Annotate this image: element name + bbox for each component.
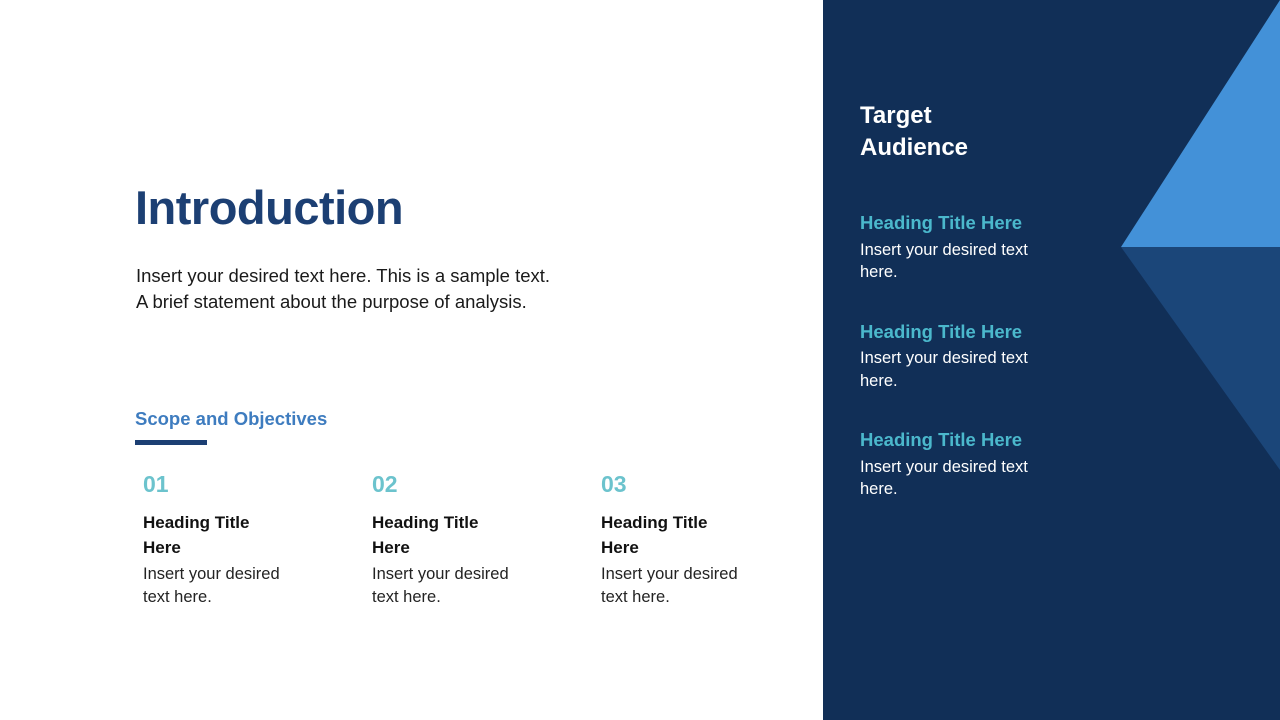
objective-column: 02 Heading Title Here Insert your desire… bbox=[372, 472, 601, 609]
panel-title-line-2: Audience bbox=[860, 132, 968, 164]
intro-paragraph: Insert your desired text here. This is a… bbox=[136, 263, 756, 316]
objective-number: 01 bbox=[143, 472, 372, 497]
objective-body: Insert your desired text here. bbox=[143, 563, 293, 610]
intro-line-2: A brief statement about the purpose of a… bbox=[136, 289, 756, 315]
bright-blue-triangle bbox=[1121, 0, 1280, 247]
objective-column: 01 Heading Title Here Insert your desire… bbox=[143, 472, 372, 609]
audience-item: Heading Title Here Insert your desired t… bbox=[860, 211, 1070, 284]
objective-number: 03 bbox=[601, 472, 830, 497]
objective-heading: Heading Title Here bbox=[143, 511, 263, 560]
slide-canvas: Introduction Insert your desired text he… bbox=[0, 0, 1280, 720]
audience-item-heading: Heading Title Here bbox=[860, 428, 1070, 453]
objective-heading: Heading Title Here bbox=[372, 511, 492, 560]
objective-body: Insert your desired text here. bbox=[601, 563, 751, 610]
page-title: Introduction bbox=[135, 183, 403, 232]
target-audience-panel: Target Audience Heading Title Here Inser… bbox=[823, 0, 1280, 720]
audience-item: Heading Title Here Insert your desired t… bbox=[860, 320, 1070, 393]
left-content-pane: Introduction Insert your desired text he… bbox=[0, 0, 823, 720]
scope-and-objectives-heading: Scope and Objectives bbox=[135, 408, 327, 430]
intro-line-1: Insert your desired text here. This is a… bbox=[136, 263, 756, 289]
objective-number: 02 bbox=[372, 472, 601, 497]
scope-underline-bar bbox=[135, 440, 207, 445]
audience-items-list: Heading Title Here Insert your desired t… bbox=[860, 211, 1070, 501]
audience-item-body: Insert your desired text here. bbox=[860, 239, 1056, 284]
audience-item-heading: Heading Title Here bbox=[860, 320, 1070, 345]
objective-column: 03 Heading Title Here Insert your desire… bbox=[601, 472, 830, 609]
audience-item-body: Insert your desired text here. bbox=[860, 456, 1056, 501]
panel-title: Target Audience bbox=[860, 100, 968, 164]
medium-blue-triangle bbox=[1121, 247, 1280, 470]
audience-item: Heading Title Here Insert your desired t… bbox=[860, 428, 1070, 501]
objectives-columns: 01 Heading Title Here Insert your desire… bbox=[143, 472, 803, 609]
objective-body: Insert your desired text here. bbox=[372, 563, 522, 610]
audience-item-heading: Heading Title Here bbox=[860, 211, 1070, 236]
objective-heading: Heading Title Here bbox=[601, 511, 721, 560]
audience-item-body: Insert your desired text here. bbox=[860, 347, 1056, 392]
panel-title-line-1: Target bbox=[860, 100, 968, 132]
